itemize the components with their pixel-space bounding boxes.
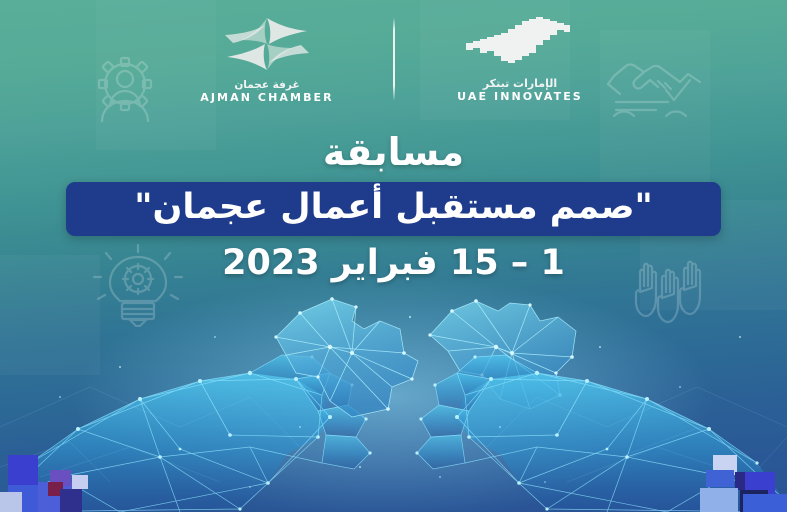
header: غرفة عجمان AJMAN CHAMBER <box>0 0 787 118</box>
uae-map-pixel-logo <box>464 15 576 75</box>
logo-label-arabic: الإمارات تبتكر <box>483 78 557 90</box>
mosaic-tile <box>8 455 38 485</box>
mosaic-tile <box>700 488 738 512</box>
ajman-chamber-star-logo <box>215 15 319 77</box>
page-kicker: مسابقة <box>0 130 787 174</box>
mosaic-tile <box>48 482 63 496</box>
page-title: "صمم مستقبل أعمال عجمان" <box>134 190 653 229</box>
logo-ajman-chamber: غرفة عجمان AJMAN CHAMBER <box>160 15 375 104</box>
mosaic-tile <box>60 489 82 512</box>
mosaic-tile <box>743 494 787 512</box>
mosaic-tile <box>72 475 88 489</box>
low-poly-hands-puzzle <box>0 277 787 512</box>
mosaic-tile <box>745 472 775 494</box>
mosaic-tile <box>50 470 71 486</box>
mosaic-tile <box>713 455 737 475</box>
mosaic-tile <box>740 490 768 512</box>
logo-label-arabic: غرفة عجمان <box>234 80 299 91</box>
poster-root: غرفة عجمان AJMAN CHAMBER <box>0 0 787 512</box>
header-divider <box>393 18 395 100</box>
logo-label-english: UAE INNOVATES <box>457 91 583 103</box>
mosaic-tile <box>38 482 72 512</box>
mosaic-tile <box>8 485 38 512</box>
event-date: 1 – 15 فبراير 2023 <box>0 243 787 283</box>
mosaic-tile <box>706 470 734 487</box>
title-banner: "صمم مستقبل أعمال عجمان" <box>66 182 721 236</box>
mosaic-tile <box>0 492 22 512</box>
logo-uae-innovates: الإمارات تبتكر UAE INNOVATES <box>413 15 628 102</box>
logo-label-english: AJMAN CHAMBER <box>200 92 334 104</box>
mosaic-tile <box>735 472 755 490</box>
